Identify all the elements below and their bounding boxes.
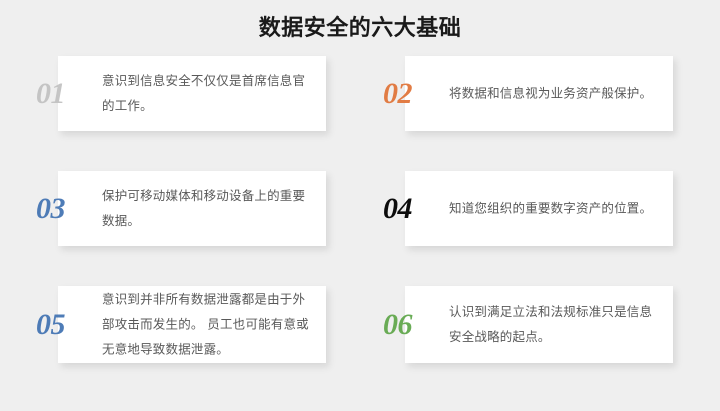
card-number-03: 03 (36, 194, 92, 224)
card-text-02: 将数据和信息视为业务资产般保护。 (449, 81, 659, 106)
card-number-01: 01 (36, 79, 92, 109)
card-grid: 01 意识到信息安全不仅仅是首席信息官的工作。 02 将数据和信息视为业务资产般… (0, 56, 720, 376)
page-title: 数据安全的六大基础 (0, 13, 720, 43)
card-row: 05 意识到并非所有数据泄露都是由于外部攻击而发生的。 员工也可能有意或无意地导… (0, 286, 720, 376)
card-text-01: 意识到信息安全不仅仅是首席信息官的工作。 (102, 69, 312, 119)
card-item-02[interactable]: 02 将数据和信息视为业务资产般保护。 (405, 56, 673, 131)
card-item-04[interactable]: 04 知道您组织的重要数字资产的位置。 (405, 171, 673, 246)
card-number-02: 02 (383, 79, 439, 109)
slide-canvas: 数据安全的六大基础 01 意识到信息安全不仅仅是首席信息官的工作。 02 将数据… (0, 0, 720, 411)
card-text-05: 意识到并非所有数据泄露都是由于外部攻击而发生的。 员工也可能有意或无意地导致数据… (102, 287, 312, 362)
card-row: 01 意识到信息安全不仅仅是首席信息官的工作。 02 将数据和信息视为业务资产般… (0, 56, 720, 171)
card-item-06[interactable]: 06 认识到满足立法和法规标准只是信息安全战略的起点。 (405, 286, 673, 363)
card-text-03: 保护可移动媒体和移动设备上的重要数据。 (102, 184, 312, 234)
card-number-04: 04 (383, 194, 439, 224)
card-text-04: 知道您组织的重要数字资产的位置。 (449, 196, 659, 221)
card-item-05[interactable]: 05 意识到并非所有数据泄露都是由于外部攻击而发生的。 员工也可能有意或无意地导… (58, 286, 326, 363)
card-row: 03 保护可移动媒体和移动设备上的重要数据。 04 知道您组织的重要数字资产的位… (0, 171, 720, 286)
card-number-06: 06 (383, 310, 439, 340)
card-text-06: 认识到满足立法和法规标准只是信息安全战略的起点。 (449, 300, 659, 350)
card-item-03[interactable]: 03 保护可移动媒体和移动设备上的重要数据。 (58, 171, 326, 246)
card-item-01[interactable]: 01 意识到信息安全不仅仅是首席信息官的工作。 (58, 56, 326, 131)
card-number-05: 05 (36, 310, 92, 340)
